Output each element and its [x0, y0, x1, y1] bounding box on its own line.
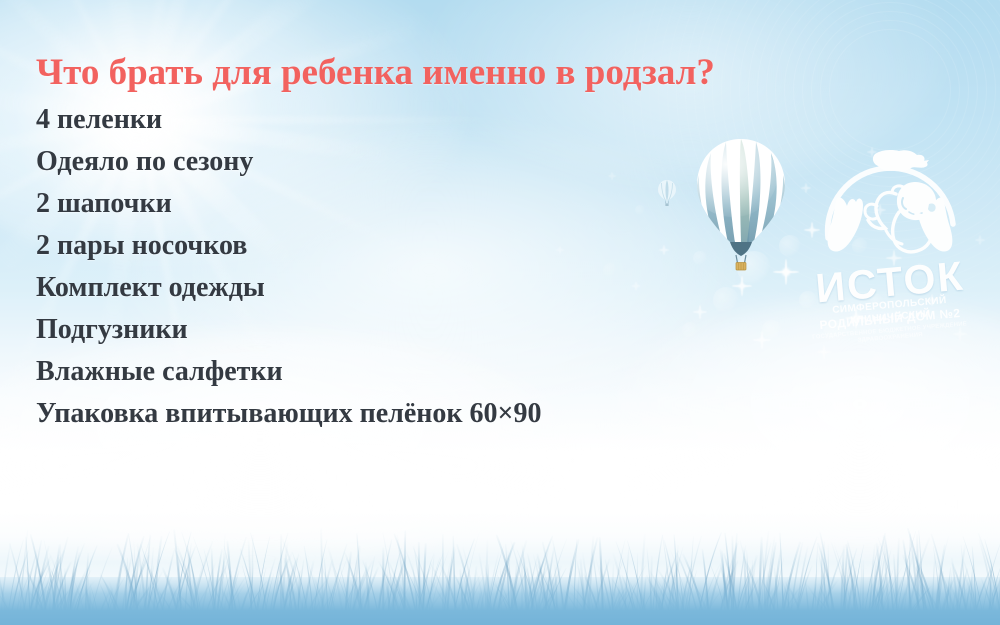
- page-title: Что брать для ребенка именно в родзал?: [36, 53, 966, 93]
- list-item: 2 пары носочков: [36, 225, 966, 267]
- list-item: Влажные салфетки: [36, 351, 966, 393]
- list-item: Упаковка впитывающих пелёнок 60×90: [36, 393, 966, 435]
- slide-content: Что брать для ребенка именно в родзал? 4…: [36, 53, 966, 435]
- list-item: Одеяло по сезону: [36, 141, 966, 183]
- items-list: 4 пеленкиОдеяло по сезону2 шапочки2 пары…: [36, 99, 966, 435]
- grass-silhouette-icon: [0, 515, 1000, 625]
- presentation-slide: ИСТОК СИМФЕРОПОЛЬСКИЙ КЛИНИЧЕСКИЙ РОДИЛЬ…: [0, 0, 1000, 625]
- list-item: 2 шапочки: [36, 183, 966, 225]
- list-item: Комплект одежды: [36, 267, 966, 309]
- list-item: Подгузники: [36, 309, 966, 351]
- list-item: 4 пеленки: [36, 99, 966, 141]
